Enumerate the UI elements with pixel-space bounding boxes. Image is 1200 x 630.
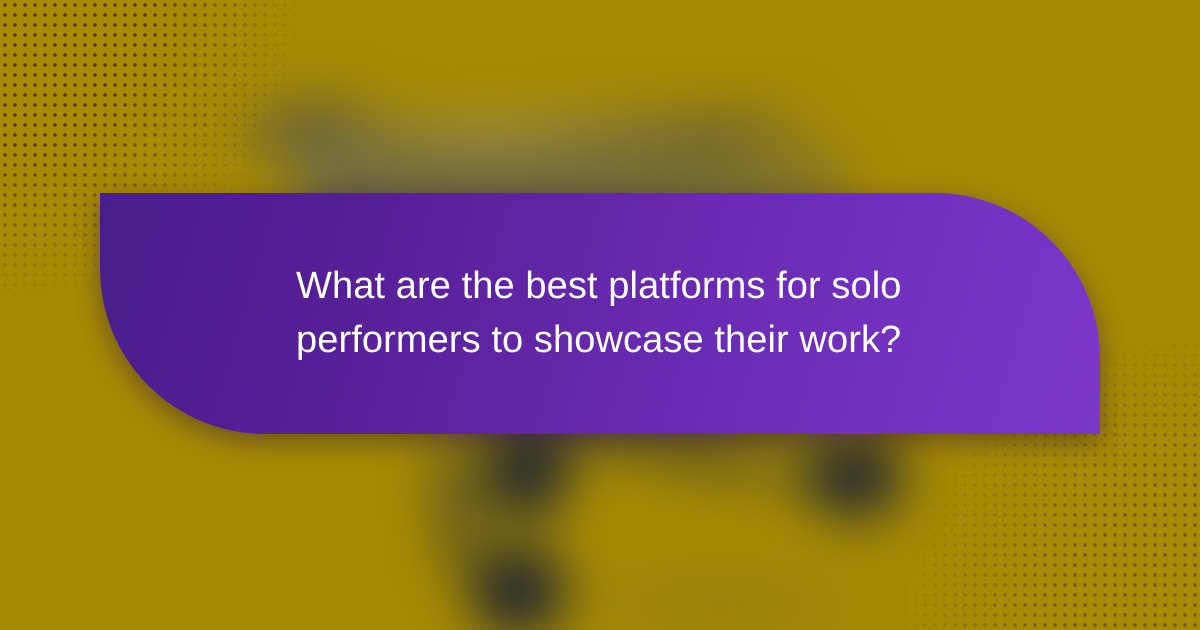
social-card: What are the best platforms for solo per… [0,0,1200,630]
cart-ground-shadow [560,560,880,630]
cart-wheel-3 [810,435,906,521]
cart-wheel-2 [470,545,568,630]
cart-leg-left [431,419,475,571]
headline-banner: What are the best platforms for solo per… [100,193,1100,434]
cart-wheel-1 [480,430,572,522]
headline-text: What are the best platforms for solo per… [100,260,1056,368]
